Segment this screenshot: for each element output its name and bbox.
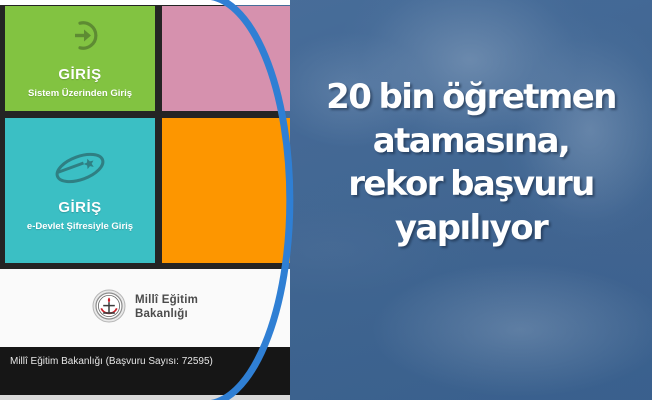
login-arrow-icon (62, 19, 98, 57)
ministry-name-line2: Bakanlığı (135, 308, 188, 320)
tile-orange[interactable] (162, 118, 290, 263)
tile-title: GİRİŞ (58, 200, 101, 215)
top-white-strip (0, 0, 290, 5)
bottom-gray-strip (0, 395, 290, 400)
headline-line-1: 20 bin öğretmen (292, 76, 650, 120)
meb-crest-icon (92, 289, 126, 328)
tile-edevlet-login[interactable]: GİRİŞ e-Devlet Şifresiyle Giriş (5, 118, 155, 263)
caption-text: Millî Eğitim Bakanlığı (Başvuru Sayısı: … (10, 354, 280, 369)
ministry-name: Millî Eğitim Bakanlığı (135, 294, 198, 321)
ministry-name-line1: Millî Eğitim (135, 294, 198, 306)
tile-subtitle: e-Devlet Şifresiyle Giriş (27, 222, 133, 232)
edevlet-logo-icon (52, 149, 108, 192)
screenshot-stage: GİRİŞ Sistem Üzerinden Giriş GİRİŞ e-Dev… (0, 0, 652, 400)
headline: 20 bin öğretmen atamasına, rekor başvuru… (292, 76, 650, 250)
tile-title: GİRİŞ (58, 67, 101, 82)
caption-bar: Millî Eğitim Bakanlığı (Başvuru Sayısı: … (0, 347, 290, 395)
headline-line-2: atamasına, (292, 120, 650, 164)
headline-line-4: yapılıyor (292, 207, 650, 251)
ministry-bar: Millî Eğitim Bakanlığı (0, 269, 290, 347)
tile-system-login[interactable]: GİRİŞ Sistem Üzerinden Giriş (5, 6, 155, 111)
tile-pink[interactable] (162, 6, 290, 111)
tile-subtitle: Sistem Üzerinden Giriş (28, 89, 132, 99)
headline-line-3: rekor başvuru (292, 163, 650, 207)
